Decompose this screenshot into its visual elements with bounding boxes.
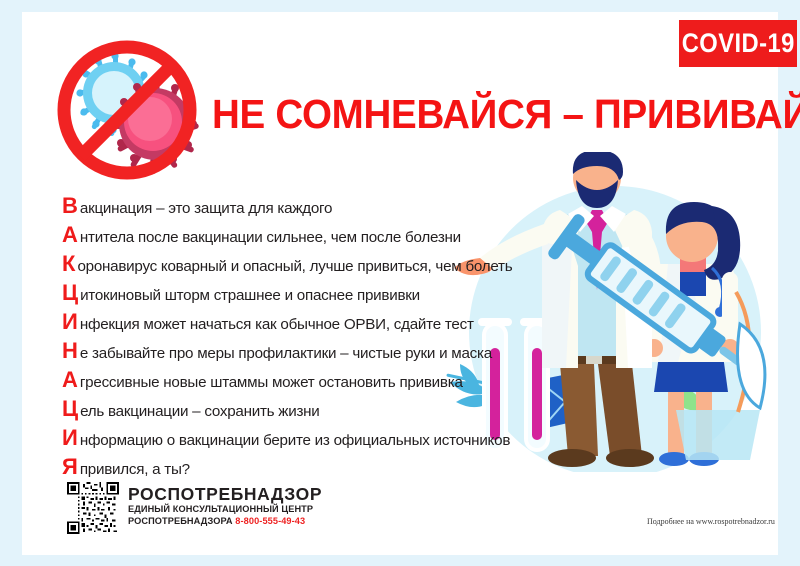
acrostic-initial: Н bbox=[62, 340, 78, 362]
poster-root: COVID-19 bbox=[0, 0, 800, 566]
qr-code[interactable] bbox=[67, 482, 119, 534]
page-title: НЕ СОМНЕВАЙСЯ – ПРИВИВАЙСЯ! bbox=[212, 88, 701, 140]
acrostic-line: Я привился, а ты? bbox=[62, 456, 502, 485]
org-sub-line-2: РОСПОТРЕБНАДЗОРА 8-800-555-49-43 bbox=[128, 516, 322, 528]
covid-19-badge-label: COVID-19 bbox=[681, 28, 794, 59]
acrostic-initial: К bbox=[62, 253, 75, 275]
logo-text-block: РОСПОТРЕБНАДЗОР ЕДИНЫЙ КОНСУЛЬТАЦИОННЫЙ … bbox=[128, 482, 322, 527]
acrostic-line: К оронавирус коварный и опасный, лучше п… bbox=[62, 253, 502, 282]
acrostic-text: нтитела после вакцинации сильнее, чем по… bbox=[80, 227, 461, 249]
acrostic-text: нформацию о вакцинации берите из официал… bbox=[80, 430, 510, 452]
org-sub-line-2-text: РОСПОТРЕБНАДЗОРА bbox=[128, 516, 233, 526]
acrostic-line: А нтитела после вакцинации сильнее, чем … bbox=[62, 224, 502, 253]
org-sub-line-1: ЕДИНЫЙ КОНСУЛЬТАЦИОННЫЙ ЦЕНТР bbox=[128, 504, 322, 516]
acrostic-initial: А bbox=[62, 224, 78, 246]
acrostic-text: оронавирус коварный и опасный, лучше при… bbox=[77, 256, 512, 278]
acrostic-line: А грессивные новые штаммы может останови… bbox=[62, 369, 502, 398]
acrostic-initial: В bbox=[62, 195, 78, 217]
prohibition-virus-icon bbox=[40, 34, 210, 194]
acrostic-initial: А bbox=[62, 369, 78, 391]
acrostic-text: итокиновый шторм страшнее и опаснее прив… bbox=[80, 285, 420, 307]
acrostic-text: е забывайте про меры профилактики – чист… bbox=[80, 343, 492, 365]
plant-pot bbox=[676, 410, 760, 460]
acrostic-text: привился, а ты? bbox=[80, 459, 190, 481]
acrostic-line: Н е забывайте про меры профилактики – чи… bbox=[62, 340, 502, 369]
acrostic-text: акцинация – это защита для каждого bbox=[80, 198, 332, 220]
acrostic-text: грессивные новые штаммы может остановить… bbox=[80, 372, 463, 394]
org-title: РОСПОТРЕБНАДЗОР bbox=[128, 484, 322, 504]
covid-19-badge: COVID-19 bbox=[679, 20, 797, 67]
acrostic-initial: Я bbox=[62, 456, 78, 478]
acrostic-initial: Ц bbox=[62, 398, 78, 420]
shoe-left bbox=[548, 449, 596, 467]
acrostic-line: И нфекция может начаться как обычное ОРВ… bbox=[62, 311, 502, 340]
acrostic-line: И нформацию о вакцинации берите из офици… bbox=[62, 427, 502, 456]
poster-sheet: COVID-19 bbox=[22, 12, 778, 555]
acrostic-text: ель вакцинации – сохранить жизни bbox=[80, 401, 319, 423]
acrostic-initial: И bbox=[62, 311, 78, 333]
acrostic-initial: И bbox=[62, 427, 78, 449]
acrostic-line: Ц ель вакцинации – сохранить жизни bbox=[62, 398, 502, 427]
more-info-text: Подробнее на www.rospotrebnadzor.ru bbox=[647, 517, 775, 526]
acrostic-line: В акцинация – это защита для каждого bbox=[62, 195, 502, 224]
acrostic-text: нфекция может начаться как обычное ОРВИ,… bbox=[80, 314, 474, 336]
shoe-right bbox=[606, 449, 654, 467]
acrostic-list: В акцинация – это защита для каждого А н… bbox=[62, 195, 502, 485]
rospotrebnadzor-logo-block: РОСПОТРЕБНАДЗОР ЕДИНЫЙ КОНСУЛЬТАЦИОННЫЙ … bbox=[67, 482, 367, 538]
hotline-phone: 8-800-555-49-43 bbox=[235, 516, 305, 526]
acrostic-line: Ц итокиновый шторм страшнее и опаснее пр… bbox=[62, 282, 502, 311]
acrostic-initial: Ц bbox=[62, 282, 78, 304]
